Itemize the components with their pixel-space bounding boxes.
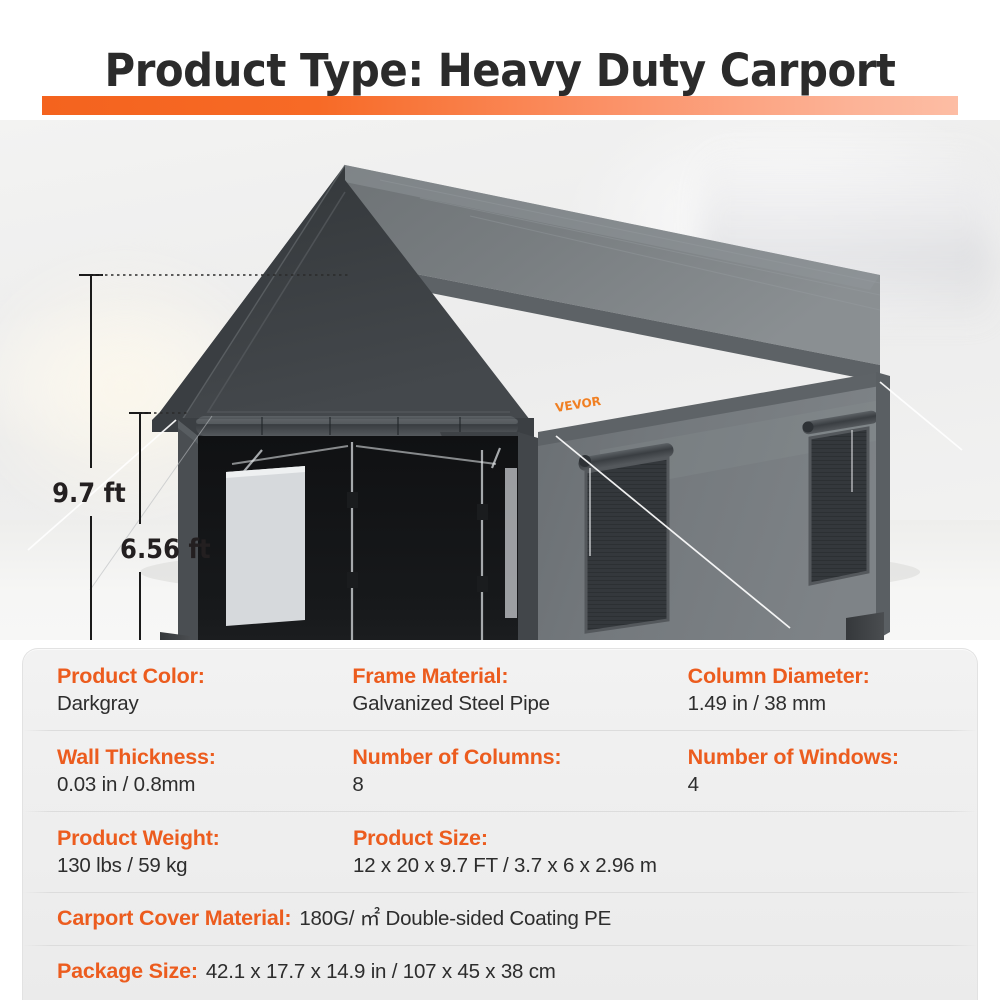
spec-label: Package Size: (57, 958, 198, 985)
spec-cell-product-weight: Product Weight: 130 lbs / 59 kg (23, 811, 353, 892)
dimension-peak-height: 9.7 ft (52, 478, 126, 509)
header: Product Type: Heavy Duty Carport (0, 0, 1000, 120)
spec-label: Number of Columns: (352, 744, 687, 771)
spec-label: Product Size: (353, 825, 689, 852)
table-row: Package Size: 42.1 x 17.7 x 14.9 in / 10… (23, 945, 977, 998)
spec-label: Frame Material: (352, 663, 687, 690)
product-illustration: VEVOR 9 (0, 120, 1000, 640)
spec-cell-package-size: Package Size: 42.1 x 17.7 x 14.9 in / 10… (23, 945, 556, 998)
table-row: Product Color: Darkgray Frame Material: … (23, 649, 977, 730)
spec-value: Galvanized Steel Pipe (352, 690, 687, 718)
spec-cell-number-of-columns: Number of Columns: 8 (352, 730, 687, 811)
vevor-logo: VEVOR (554, 394, 602, 415)
table-row: Wall Thickness: 0.03 in / 0.8mm Number o… (23, 730, 977, 811)
spec-value: 0.03 in / 0.8mm (57, 771, 352, 799)
spec-label: Column Diameter: (688, 663, 977, 690)
spec-value: 180G/ ㎡ Double-sided Coating PE (299, 905, 611, 933)
table-row: Product Weight: 130 lbs / 59 kg Product … (23, 811, 977, 892)
title-underline-bar (42, 96, 958, 115)
spec-label: Product Weight: (57, 825, 353, 852)
spec-value: 1.49 in / 38 mm (688, 690, 977, 718)
spec-cell-product-size: Product Size: 12 x 20 x 9.7 FT / 3.7 x 6… (353, 811, 689, 892)
page-title: Product Type: Heavy Duty Carport (35, 44, 965, 97)
spec-cell-cover-material: Carport Cover Material: 180G/ ㎡ Double-s… (23, 892, 611, 945)
spec-cell-wall-thickness: Wall Thickness: 0.03 in / 0.8mm (23, 730, 352, 811)
spec-label: Product Color: (57, 663, 352, 690)
spec-value: 12 x 20 x 9.7 FT / 3.7 x 6 x 2.96 m (353, 852, 689, 880)
spec-cell-product-color: Product Color: Darkgray (23, 649, 352, 730)
spec-label: Wall Thickness: (57, 744, 352, 771)
spec-cell-column-diameter: Column Diameter: 1.49 in / 38 mm (688, 649, 977, 730)
spec-value: 8 (352, 771, 687, 799)
table-row: Carport Cover Material: 180G/ ㎡ Double-s… (23, 892, 977, 945)
spec-label: Number of Windows: (688, 744, 977, 771)
spec-value: Darkgray (57, 690, 352, 718)
dimension-wall-height: 6.56 ft (120, 534, 211, 565)
spec-value: 130 lbs / 59 kg (57, 852, 353, 880)
spec-cell-frame-material: Frame Material: Galvanized Steel Pipe (352, 649, 687, 730)
spec-cell-number-of-windows: Number of Windows: 4 (688, 730, 977, 811)
spec-value: 42.1 x 17.7 x 14.9 in / 107 x 45 x 38 cm (206, 958, 556, 986)
spec-label: Carport Cover Material: (57, 905, 291, 932)
specification-table: Product Color: Darkgray Frame Material: … (22, 648, 978, 1000)
dimension-lines (79, 275, 151, 640)
side-window-1 (578, 442, 675, 632)
spec-value: 4 (688, 771, 977, 799)
